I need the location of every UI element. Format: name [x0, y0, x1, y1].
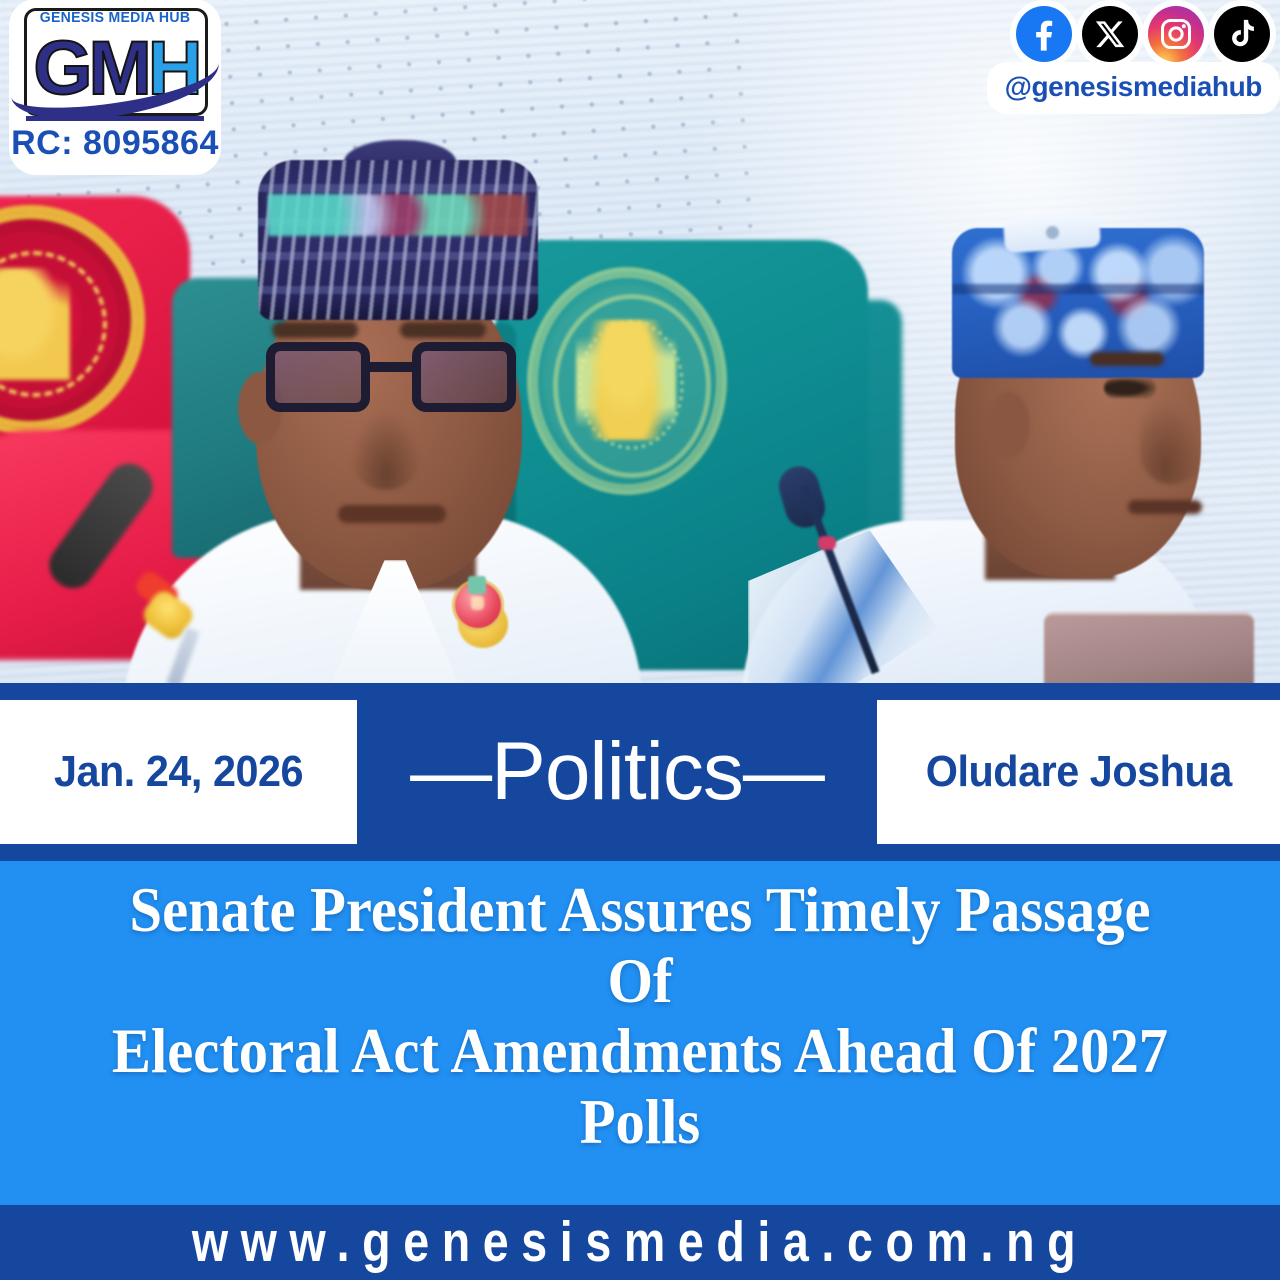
headline-text: Senate President Assures Timely Passage … — [95, 875, 1185, 1157]
category-banner-strip: Jan. 24, 2026 —Politics— Oludare Joshua — [0, 683, 1280, 861]
coat-of-arms-crest-green — [576, 320, 676, 440]
left-person-cap-pattern — [258, 160, 538, 320]
right-microphone-ring — [818, 536, 836, 550]
coat-of-arms-crest-red — [0, 268, 70, 380]
left-person-brow-left — [272, 322, 358, 338]
logo-divider-rule — [26, 116, 204, 121]
news-photo: GENESIS MEDIA HUB GMH RC: 8095864 — [0, 0, 1280, 683]
left-person-mouth — [338, 505, 446, 523]
instagram-icon[interactable] — [1148, 6, 1204, 62]
headline-area: Senate President Assures Timely Passage … — [0, 861, 1280, 1205]
left-person-brow-right — [400, 322, 486, 338]
social-icon-row — [1016, 6, 1270, 62]
author-box: Oludare Joshua — [877, 700, 1280, 844]
right-person-ear — [988, 392, 1030, 458]
right-person-cap-band — [952, 284, 1204, 294]
facebook-icon[interactable] — [1016, 6, 1072, 62]
glasses-bridge — [370, 362, 414, 372]
author-name: Oludare Joshua — [925, 747, 1231, 797]
logo-rc-number: RC: 8095864 — [8, 124, 222, 163]
right-person-nose — [1140, 402, 1202, 484]
social-handle-text: @genesismediahub — [1005, 71, 1262, 103]
laptop-screen — [1044, 612, 1254, 683]
lapel-badge — [452, 578, 510, 652]
right-person-cap-fold — [1003, 213, 1101, 254]
logo-title: GENESIS MEDIA HUB — [11, 10, 219, 26]
x-twitter-icon[interactable] — [1082, 6, 1138, 62]
headline-line-1: Senate President Assures Timely Passage … — [95, 875, 1185, 1016]
headline-line-2: Electoral Act Amendments Ahead Of 2027 P… — [95, 1016, 1185, 1157]
glasses-lens-left — [266, 342, 370, 412]
social-media-block: @genesismediahub — [1000, 6, 1274, 110]
publish-date: Jan. 24, 2026 — [54, 747, 303, 797]
social-handle-pill[interactable]: @genesismediahub — [993, 68, 1274, 108]
right-person-mouth — [1128, 500, 1202, 514]
website-footer: www.genesismedia.com.ng — [0, 1205, 1280, 1280]
right-person-cap — [952, 228, 1204, 378]
logo-monogram: GMH — [16, 26, 216, 112]
category-label: —Politics— — [410, 731, 824, 813]
right-person-eye — [1104, 378, 1156, 398]
glasses-lens-right — [412, 342, 516, 412]
left-person-cap-beads — [268, 194, 528, 236]
lapel-badge-clasp — [468, 576, 486, 594]
news-graphic-card: GENESIS MEDIA HUB GMH RC: 8095864 — [0, 0, 1280, 1280]
right-person-cap-pattern — [952, 228, 1204, 378]
genesis-media-hub-logo: GENESIS MEDIA HUB GMH RC: 8095864 — [8, 0, 222, 176]
tiktok-icon[interactable] — [1214, 6, 1270, 62]
left-person-cap — [258, 160, 538, 320]
date-box: Jan. 24, 2026 — [0, 700, 357, 844]
right-person-brow — [1090, 352, 1164, 366]
category-wrap: —Politics— — [357, 700, 877, 844]
website-url[interactable]: www.genesismedia.com.ng — [192, 1210, 1088, 1275]
left-person-nose — [350, 410, 422, 490]
